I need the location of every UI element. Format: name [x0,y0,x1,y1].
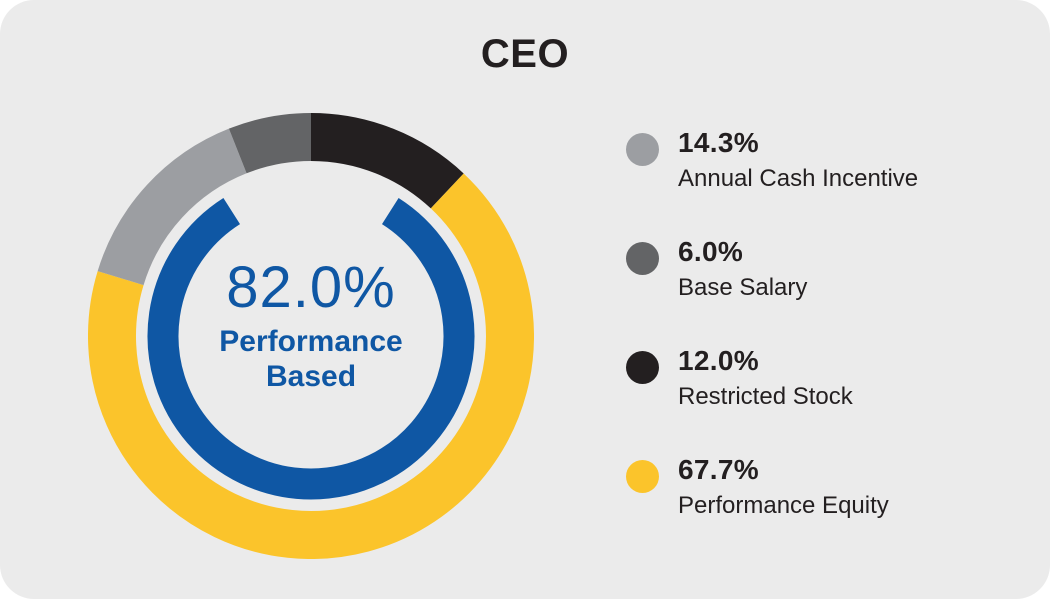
legend-swatch-icon [626,351,659,384]
legend-percent: 12.0% [678,344,1026,378]
legend-item-performance-equity: 67.7% Performance Equity [626,453,1026,527]
donut-chart [88,113,534,559]
legend-swatch-icon [626,133,659,166]
inner-performance-arc [163,211,459,484]
legend-item-base-salary: 6.0% Base Salary [626,235,1026,309]
donut-svg [88,113,534,559]
page-title: CEO [0,32,1050,77]
chart-card: CEO 82.0% Performance Based 14.3% Annual… [0,0,1050,599]
slice-base-salary [238,137,311,151]
legend-swatch-icon [626,460,659,493]
legend-percent: 67.7% [678,453,1026,487]
legend-label: Performance Equity [678,490,1026,521]
legend-label: Base Salary [678,272,1026,303]
legend-item-restricted-stock: 12.0% Restricted Stock [626,344,1026,418]
legend-label: Restricted Stock [678,381,1026,412]
slice-restricted-stock [311,137,447,191]
legend-item-annual-cash-incentive: 14.3% Annual Cash Incentive [626,126,1026,200]
legend-label: Annual Cash Incentive [678,163,1026,194]
legend-percent: 14.3% [678,126,1026,160]
arc-performance-based [163,211,459,484]
legend-percent: 6.0% [678,235,1026,269]
chart-legend: 14.3% Annual Cash Incentive 6.0% Base Sa… [626,126,1026,527]
legend-swatch-icon [626,242,659,275]
